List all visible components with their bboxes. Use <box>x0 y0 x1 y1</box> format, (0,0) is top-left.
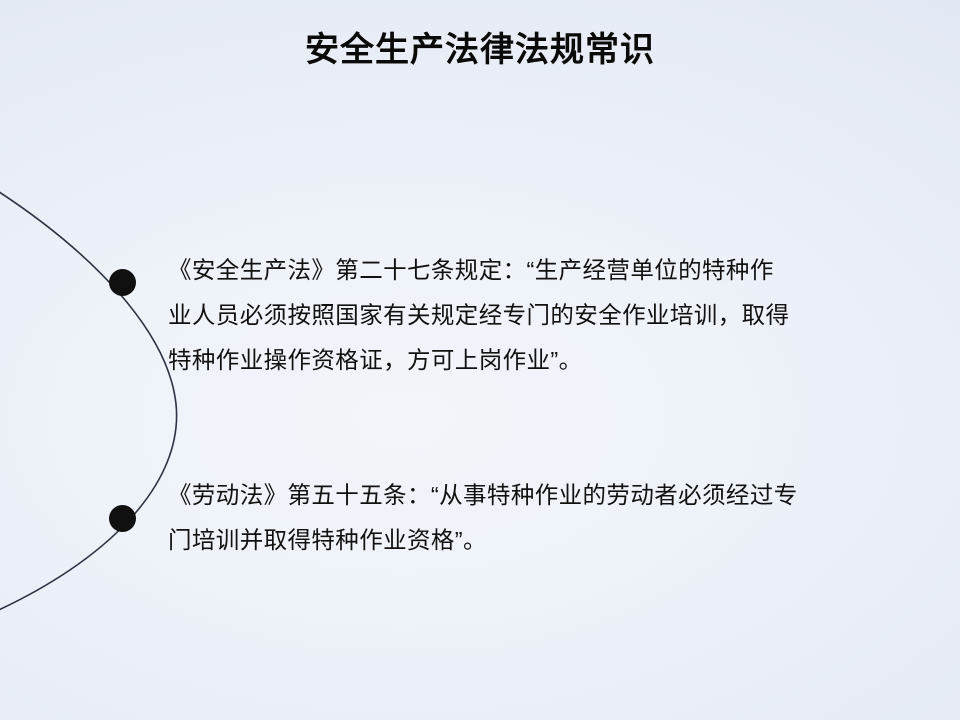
paragraph-line: 《安全生产法》第二十七条规定：“生产经营单位的特种作 <box>168 248 898 293</box>
slide-canvas: 安全生产法律法规常识 《安全生产法》第二十七条规定：“生产经营单位的特种作 业人… <box>0 0 960 720</box>
bullet-dot-icon-1 <box>109 269 136 296</box>
paragraph-line: 门培训并取得特种作业资格”。 <box>168 518 898 563</box>
paragraph-labour-law: 《劳动法》第五十五条：“从事特种作业的劳动者必须经过专 门培训并取得特种作业资格… <box>168 473 898 563</box>
paragraph-line: 《劳动法》第五十五条：“从事特种作业的劳动者必须经过专 <box>168 473 898 518</box>
paragraph-line: 业人员必须按照国家有关规定经专门的安全作业培训，取得 <box>168 293 898 338</box>
paragraph-safety-production-law: 《安全生产法》第二十七条规定：“生产经营单位的特种作 业人员必须按照国家有关规定… <box>168 248 898 383</box>
page-title: 安全生产法律法规常识 <box>0 22 960 71</box>
paragraph-line: 特种作业操作资格证，方可上岗作业”。 <box>168 338 898 383</box>
bullet-dot-icon-2 <box>109 505 136 532</box>
body-content: 《安全生产法》第二十七条规定：“生产经营单位的特种作 业人员必须按照国家有关规定… <box>168 248 898 563</box>
